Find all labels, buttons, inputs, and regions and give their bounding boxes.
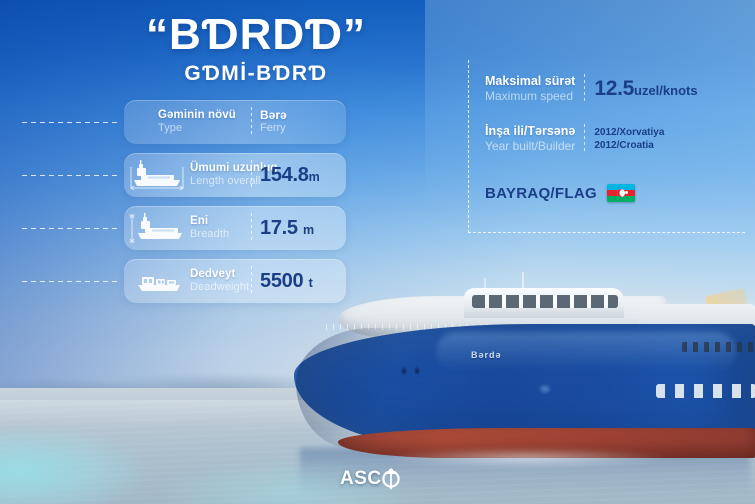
info-label-en: Maximum speed (485, 89, 575, 104)
info-row-flag[interactable]: BAYRAQ/FLAG (469, 154, 745, 202)
spec-divider (251, 213, 252, 243)
spec-value-number: 154.8m (260, 164, 336, 187)
built-value-az: 2012/Xorvatiya (594, 126, 664, 140)
ship-breadth-icon (124, 206, 188, 250)
leader-line-type (22, 122, 120, 123)
leader-line-length (22, 175, 120, 176)
ship-bow-shading (296, 328, 416, 448)
spec-value-group: 17.5 m (260, 217, 346, 240)
spec-value-unit: m (303, 223, 314, 237)
spec-label-group: Gəminin növü Type (146, 109, 249, 135)
spec-label-az: Ümumi uzunluq (190, 162, 249, 175)
info-divider (584, 74, 585, 104)
spec-divider (251, 266, 252, 296)
spec-label-en: Deadweight (190, 281, 249, 294)
spec-label-en: Breadth (190, 228, 249, 241)
speed-figure: 12.5 (594, 77, 634, 100)
infographic-poster: Bərdə “BƊRDƊ” GƊMİ-BƊRƊ Gəminin növü Typ… (0, 0, 755, 504)
spec-value-en: Ferry (260, 122, 336, 135)
info-label-az: Maksimal sürət (485, 74, 575, 89)
spec-value-group: 5500 t (260, 270, 346, 293)
spec-divider (251, 160, 252, 190)
spec-value-number: 17.5 m (260, 217, 336, 240)
flag-star-icon (625, 191, 628, 194)
spec-value-group: Bərə Ferry (260, 109, 346, 136)
spec-panel-list: Gəminin növü Type Bərə Ferry (124, 100, 346, 312)
ship-bridge-windows (472, 295, 618, 308)
spec-value-figure: 17.5 (260, 217, 298, 239)
asco-anchor-logo (380, 468, 402, 490)
spec-label-az: Eni (190, 215, 249, 228)
info-value-max-speed: 12.5uzel/knots (594, 77, 697, 101)
spec-label-group: Eni Breadth (188, 215, 249, 241)
ship-aft-windows (682, 342, 755, 352)
cargo-deadweight-icon (124, 259, 188, 303)
spec-row-breadth[interactable]: Eni Breadth 17.5 m (124, 206, 346, 250)
spec-label-group: Dedveyt Deadweight (188, 268, 249, 294)
spec-divider (251, 107, 252, 137)
leader-line-breadth (22, 228, 120, 229)
info-label-az: İnşa ili/Tərsənə (485, 124, 575, 139)
spec-value-figure: 5500 (260, 270, 303, 292)
info-label-group: Maksimal sürət Maximum speed (469, 74, 575, 104)
built-value-en: 2012/Croatia (594, 139, 664, 153)
ship-hull-name: Bərdə (471, 350, 502, 360)
page-title: “BƊRDƊ” (96, 12, 416, 58)
flag-label: BAYRAQ/FLAG (485, 185, 597, 202)
spec-value-unit: t (309, 276, 313, 290)
ship-photo: Bərdə (286, 288, 755, 463)
leader-line-deadweight (22, 281, 120, 282)
ship-portholes (656, 384, 755, 398)
spec-label-az: Gəminin növü (158, 109, 249, 122)
spec-label-en: Type (158, 122, 249, 135)
spec-value-unit: m (309, 170, 320, 184)
info-label-en: Year built/Builder (485, 139, 575, 154)
info-label-group: İnşa ili/Tərsənə Year built/Builder (469, 124, 575, 154)
spec-row-type[interactable]: Gəminin növü Type Bərə Ferry (124, 100, 346, 144)
right-info-block: Maksimal sürət Maximum speed 12.5uzel/kn… (468, 60, 745, 233)
spec-row-deadweight[interactable]: Dedveyt Deadweight 5500 t (124, 259, 346, 303)
spec-label-az: Dedveyt (190, 268, 249, 281)
info-value-year-built: 2012/Xorvatiya 2012/Croatia (594, 126, 664, 153)
info-divider (584, 124, 585, 154)
ship-anchor-icon (398, 362, 424, 380)
info-row-max-speed[interactable]: Maksimal sürət Maximum speed 12.5uzel/kn… (469, 60, 745, 104)
spec-row-length-overall[interactable]: Ümumi uzunluq Length overall 154.8m (124, 153, 346, 197)
speed-unit: uzel/knots (634, 83, 698, 98)
bow-wave (346, 446, 726, 470)
spec-value-group: 154.8m (260, 164, 346, 187)
info-row-year-built[interactable]: İnşa ili/Tərsənə Year built/Builder 2012… (469, 104, 745, 154)
ship-length-icon (124, 153, 188, 197)
title-block: “BƊRDƊ” GƊMİ-BƊRƊ (96, 12, 416, 86)
ship-bow-emblem (534, 380, 556, 398)
spec-label-group: Ümumi uzunluq Length overall (188, 162, 249, 188)
spec-value-az: Bərə (260, 109, 336, 122)
asco-logo-text: ASC (340, 468, 382, 490)
spec-value-figure: 154.8 (260, 164, 309, 186)
spec-label-en: Length overall (190, 175, 249, 188)
azerbaijan-flag-icon (607, 184, 635, 202)
spec-icon-placeholder (124, 100, 146, 144)
flag-crescent-icon (617, 189, 625, 197)
asco-logo[interactable]: ASC (340, 468, 402, 490)
spec-value-number: 5500 t (260, 270, 336, 293)
page-subtitle: GƊMİ-BƊRƊ (96, 62, 416, 86)
